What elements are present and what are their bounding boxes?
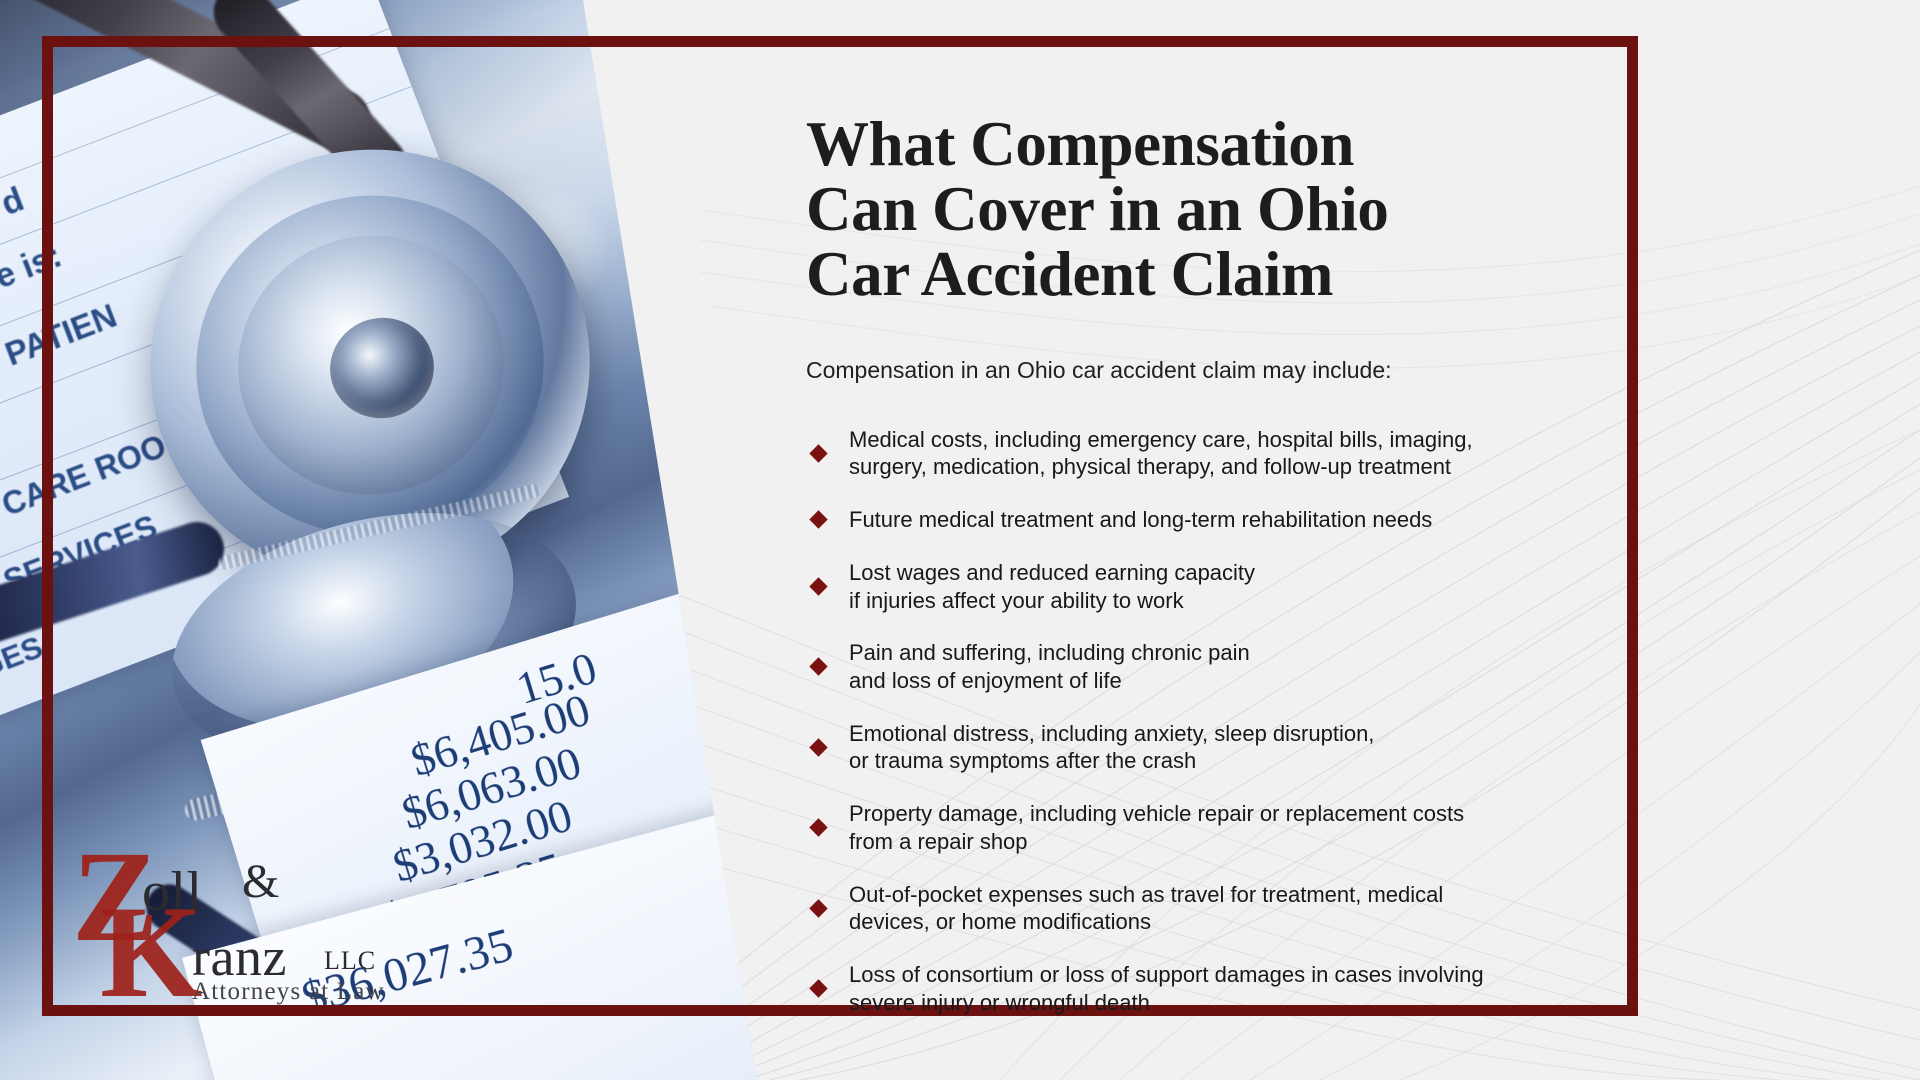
list-item-text: Out-of-pocket expenses such as travel fo… <box>849 881 1443 936</box>
title-line-1: What Compensation <box>806 112 1646 177</box>
list-item: Lost wages and reduced earning capacity … <box>806 559 1646 614</box>
diamond-bullet-icon <box>809 444 827 462</box>
infographic-poster: r payment is d balance due is: MARY OF P… <box>0 0 1920 1080</box>
list-item: Medical costs, including emergency care,… <box>806 426 1646 481</box>
list-item: Emotional distress, including anxiety, s… <box>806 720 1646 775</box>
title-line-3: Car Accident Claim <box>806 242 1646 307</box>
diamond-bullet-icon <box>809 658 827 676</box>
diamond-bullet-icon <box>809 511 827 529</box>
diamond-bullet-icon <box>809 979 827 997</box>
list-item-text: Emotional distress, including anxiety, s… <box>849 720 1374 775</box>
diamond-bullet-icon <box>809 577 827 595</box>
diamond-bullet-icon <box>809 738 827 756</box>
list-item-text: Medical costs, including emergency care,… <box>849 426 1473 481</box>
page-title: What Compensation Can Cover in an Ohio C… <box>806 112 1646 307</box>
title-line-2: Can Cover in an Ohio <box>806 177 1646 242</box>
list-item-text: Lost wages and reduced earning capacity … <box>849 559 1255 614</box>
stethoscope-photo: r payment is d balance due is: MARY OF P… <box>0 0 790 1080</box>
list-item-text: Pain and suffering, including chronic pa… <box>849 639 1250 694</box>
list-item: Future medical treatment and long-term r… <box>806 506 1646 534</box>
list-item: Pain and suffering, including chronic pa… <box>806 639 1646 694</box>
list-item-text: Loss of consortium or loss of support da… <box>849 961 1484 1016</box>
subtitle: Compensation in an Ohio car accident cla… <box>806 357 1646 384</box>
content-column: What Compensation Can Cover in an Ohio C… <box>806 112 1646 1016</box>
list-item-text: Property damage, including vehicle repai… <box>849 800 1464 855</box>
list-item: Property damage, including vehicle repai… <box>806 800 1646 855</box>
list-item: Out-of-pocket expenses such as travel fo… <box>806 881 1646 936</box>
bill-amount-total: $36,027.35 <box>296 917 519 1026</box>
list-item-text: Future medical treatment and long-term r… <box>849 506 1432 534</box>
diamond-bullet-icon <box>809 899 827 917</box>
compensation-list: Medical costs, including emergency care,… <box>806 426 1646 1017</box>
diamond-bullet-icon <box>809 819 827 837</box>
list-item: Loss of consortium or loss of support da… <box>806 961 1646 1016</box>
